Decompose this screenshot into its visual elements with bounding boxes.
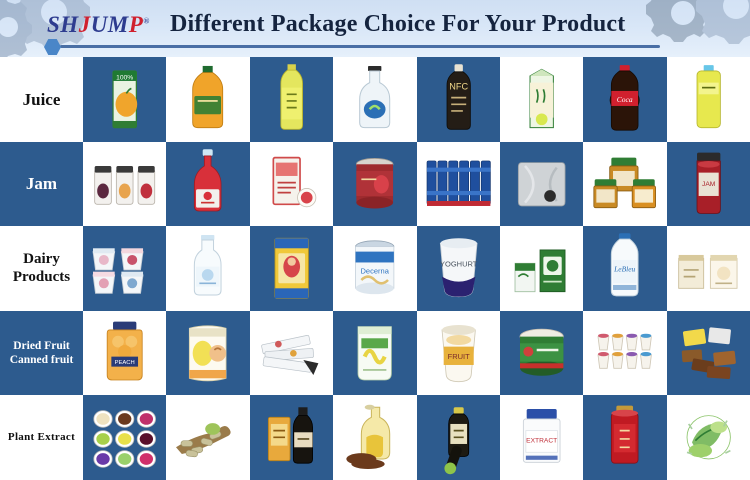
dairy-milk-powder-tin[interactable]: Decerna — [333, 226, 416, 311]
row-label-line: Canned fruit — [10, 353, 74, 367]
svg-text:YOGHURT: YOGHURT — [440, 260, 478, 269]
svg-text:Coca: Coca — [617, 95, 633, 104]
jam-tin-can[interactable] — [333, 142, 416, 227]
dried-snack-pillow-pack[interactable] — [166, 311, 249, 396]
row-label-dried-fruit-canned-fruit: Dried FruitCanned fruit — [0, 311, 83, 396]
dairy-milk-glass-bottle[interactable] — [166, 226, 249, 311]
logo-part-um: UM — [91, 12, 129, 37]
bottle-milk-glass-icon — [166, 226, 249, 311]
carton-gable-green-icon — [500, 57, 583, 142]
dishes-powder-colors-icon — [83, 395, 166, 480]
extract-oil-jug[interactable] — [333, 395, 416, 480]
extract-capsules-spoon[interactable] — [166, 395, 249, 480]
dried-assorted-bars[interactable] — [667, 311, 750, 396]
svg-text:JAM: JAM — [702, 181, 715, 188]
jam-ketchup-bottle[interactable] — [166, 142, 249, 227]
package-choice-banner: SHJUMP® Different Package Choice For You… — [0, 0, 750, 480]
pouches-green-pair-icon — [500, 226, 583, 311]
bottle-ketchup-icon — [166, 142, 249, 227]
svg-text:NFC: NFC — [449, 81, 468, 91]
jam-stacked-drums[interactable] — [417, 142, 500, 227]
cups-mini-tray-icon — [583, 311, 666, 396]
carton-orange-juice-icon: 100% — [83, 57, 166, 142]
dairy-flexible-film-pack[interactable] — [250, 226, 333, 311]
page-title: Different Package Choice For Your Produc… — [170, 11, 625, 38]
pack-film-yellow-icon — [250, 226, 333, 311]
dairy-yoghurt-cup-large[interactable]: YOGHURT — [417, 226, 500, 311]
hexagon-bullet-icon — [44, 39, 61, 55]
dried-plastic-cup[interactable]: FRUIT — [417, 311, 500, 396]
dried-mini-cups-tray[interactable] — [583, 311, 666, 396]
juice-square-pet-bottle[interactable] — [667, 57, 750, 142]
product-row: Dried FruitCanned fruitPEACHFRUIT — [0, 311, 750, 396]
brand-logo: SHJUMP® — [47, 12, 150, 38]
extract-powder-dishes[interactable] — [83, 395, 166, 480]
juice-glass-bottle[interactable] — [333, 57, 416, 142]
bottle-slim-yellow-icon — [250, 57, 333, 142]
product-row: Juice100%NFCCoca — [0, 57, 750, 142]
jar-tall-red-icon: JAM — [667, 142, 750, 227]
page-header: SHJUMP® Different Package Choice For You… — [0, 0, 750, 57]
juice-carton-pack[interactable]: 100% — [83, 57, 166, 142]
jars-three-icon — [83, 142, 166, 227]
box-and-bottle-dark-icon — [250, 395, 333, 480]
jars-pair-amber-icon — [583, 142, 666, 227]
registered-trademark-icon: ® — [143, 16, 149, 25]
jam-aseptic-bag[interactable] — [500, 142, 583, 227]
extract-lab-jar[interactable]: EXTRACT — [500, 395, 583, 480]
extract-green-illustration[interactable] — [667, 395, 750, 480]
product-row: Plant ExtractEXTRACT — [0, 395, 750, 480]
bottle-pet-orange-icon — [166, 57, 249, 142]
dairy-cheese-boxes[interactable] — [667, 226, 750, 311]
bars-assorted-icon — [667, 311, 750, 396]
row-label-line: Products — [13, 268, 70, 287]
row-label-plant-extract: Plant Extract — [0, 395, 83, 480]
can-jam-icon — [333, 142, 416, 227]
product-row: DairyProductsDecernaYOGHURTLeBlеu — [0, 226, 750, 311]
jug-oil-seeds-icon — [333, 395, 416, 480]
dried-stick-packs[interactable] — [250, 311, 333, 396]
row-label-juice: Juice — [0, 57, 83, 142]
cup-fruit-plastic-icon: FRUIT — [417, 311, 500, 396]
jam-jars-pair[interactable] — [583, 142, 666, 227]
extract-red-liquid-bottle[interactable] — [583, 395, 666, 480]
dried-tin-can-open[interactable] — [500, 311, 583, 396]
dried-standup-pouch[interactable] — [333, 311, 416, 396]
jam-three-glass-jars[interactable] — [83, 142, 166, 227]
pouch-sachet-red-icon — [250, 142, 333, 227]
dairy-yogurt-cups-four[interactable] — [83, 226, 166, 311]
jar-lab-white-icon: EXTRACT — [500, 395, 583, 480]
juice-nfc-dark-bottle[interactable]: NFC — [417, 57, 500, 142]
svg-text:PEACH: PEACH — [115, 360, 135, 366]
packs-sticks-icon — [250, 311, 333, 396]
dairy-milk-pet-bottle[interactable]: LeBlеu — [583, 226, 666, 311]
juice-green-tea-bottle[interactable] — [250, 57, 333, 142]
pack-pillow-lemon-icon — [166, 311, 249, 396]
bottle-square-yellow-icon — [667, 57, 750, 142]
header-underline — [60, 45, 660, 48]
illustration-green-leaf-icon — [667, 395, 750, 480]
boxes-cheese-pair-icon — [667, 226, 750, 311]
bag-aseptic-silver-icon — [500, 142, 583, 227]
jam-tall-jar[interactable]: JAM — [667, 142, 750, 227]
pouch-standup-banana-icon — [333, 311, 416, 396]
bottle-nfc-dark-icon: NFC — [417, 57, 500, 142]
cups-four-yogurt-icon — [83, 226, 166, 311]
svg-text:FRUIT: FRUIT — [447, 352, 469, 361]
logo-part-j: J — [79, 12, 91, 37]
extract-small-vials[interactable] — [417, 395, 500, 480]
cup-yoghurt-large-icon: YOGHURT — [417, 226, 500, 311]
can-open-tin-icon — [500, 311, 583, 396]
bottle-milk-pet-icon: LeBlеu — [583, 226, 666, 311]
gear-icon-right — [620, 0, 750, 57]
bottle-red-liquid-icon — [583, 395, 666, 480]
svg-text:LeBlеu: LeBlеu — [613, 265, 635, 274]
juice-large-pet-bottle[interactable] — [166, 57, 249, 142]
dried-canned-peach-jar[interactable]: PEACH — [83, 311, 166, 396]
extract-boxed-bottle[interactable] — [250, 395, 333, 480]
logo-part-sh: SH — [47, 12, 79, 37]
svg-text:Decerna: Decerna — [361, 266, 390, 275]
juice-cola-bottle[interactable]: Coca — [583, 57, 666, 142]
row-label-line: Dried Fruit — [10, 339, 74, 353]
logo-part-p: P — [129, 12, 144, 37]
row-label-line: Juice — [23, 89, 61, 110]
row-label-jam: Jam — [0, 142, 83, 227]
tin-milk-powder-icon: Decerna — [333, 226, 416, 311]
jar-canned-peach-icon: PEACH — [83, 311, 166, 396]
row-label-dairy-products: DairyProducts — [0, 226, 83, 311]
svg-text:EXTRACT: EXTRACT — [526, 438, 557, 445]
bottle-cola-icon: Coca — [583, 57, 666, 142]
juice-gable-top-carton[interactable] — [500, 57, 583, 142]
jam-sachet-pack[interactable] — [250, 142, 333, 227]
row-label-line: Plant Extract — [8, 431, 75, 445]
vials-small-dark-icon — [417, 395, 500, 480]
bottle-glass-clear-icon — [333, 57, 416, 142]
drums-stacked-blue-icon — [417, 142, 500, 227]
product-row: JamJAM — [0, 142, 750, 227]
row-label-line: Dairy — [13, 250, 70, 269]
row-label-line: Jam — [26, 173, 57, 194]
product-grid: Juice100%NFCCocaJamJAMDairyProductsDecer… — [0, 57, 750, 480]
svg-text:100%: 100% — [116, 74, 133, 81]
dairy-carton-pouches[interactable] — [500, 226, 583, 311]
capsules-spoon-icon — [166, 395, 249, 480]
